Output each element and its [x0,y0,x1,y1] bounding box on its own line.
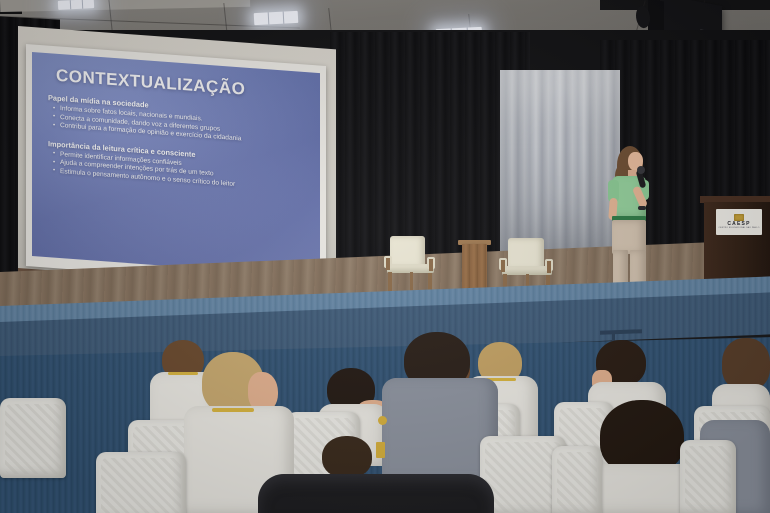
student-head [600,400,684,474]
projected-slide: CONTEXTUALIZAÇÃO Papel da mídia na socie… [32,52,320,277]
uniform-logo [378,416,387,425]
audience-chair [552,446,602,513]
auditorium-photo: CONTEXTUALIZAÇÃO Papel da mídia na socie… [0,0,770,513]
podium-sign-subtitle: CENTRO EDUCACIONAL SAO PAULO [719,227,760,230]
student-head [322,436,372,478]
caesp-crest-icon [734,214,744,221]
foreground-chair [258,474,494,513]
audience-chair [0,398,66,478]
student-collar [212,408,254,412]
microphone-head [637,166,645,174]
audience-chair [96,452,186,513]
student-collar [168,372,198,375]
ceiling-light-2 [254,11,299,25]
audience-chair [680,440,736,513]
uniform-logo [376,442,385,458]
podium-sign: CAESP CENTRO EDUCACIONAL SAO PAULO [716,209,762,235]
student-head [722,338,770,390]
